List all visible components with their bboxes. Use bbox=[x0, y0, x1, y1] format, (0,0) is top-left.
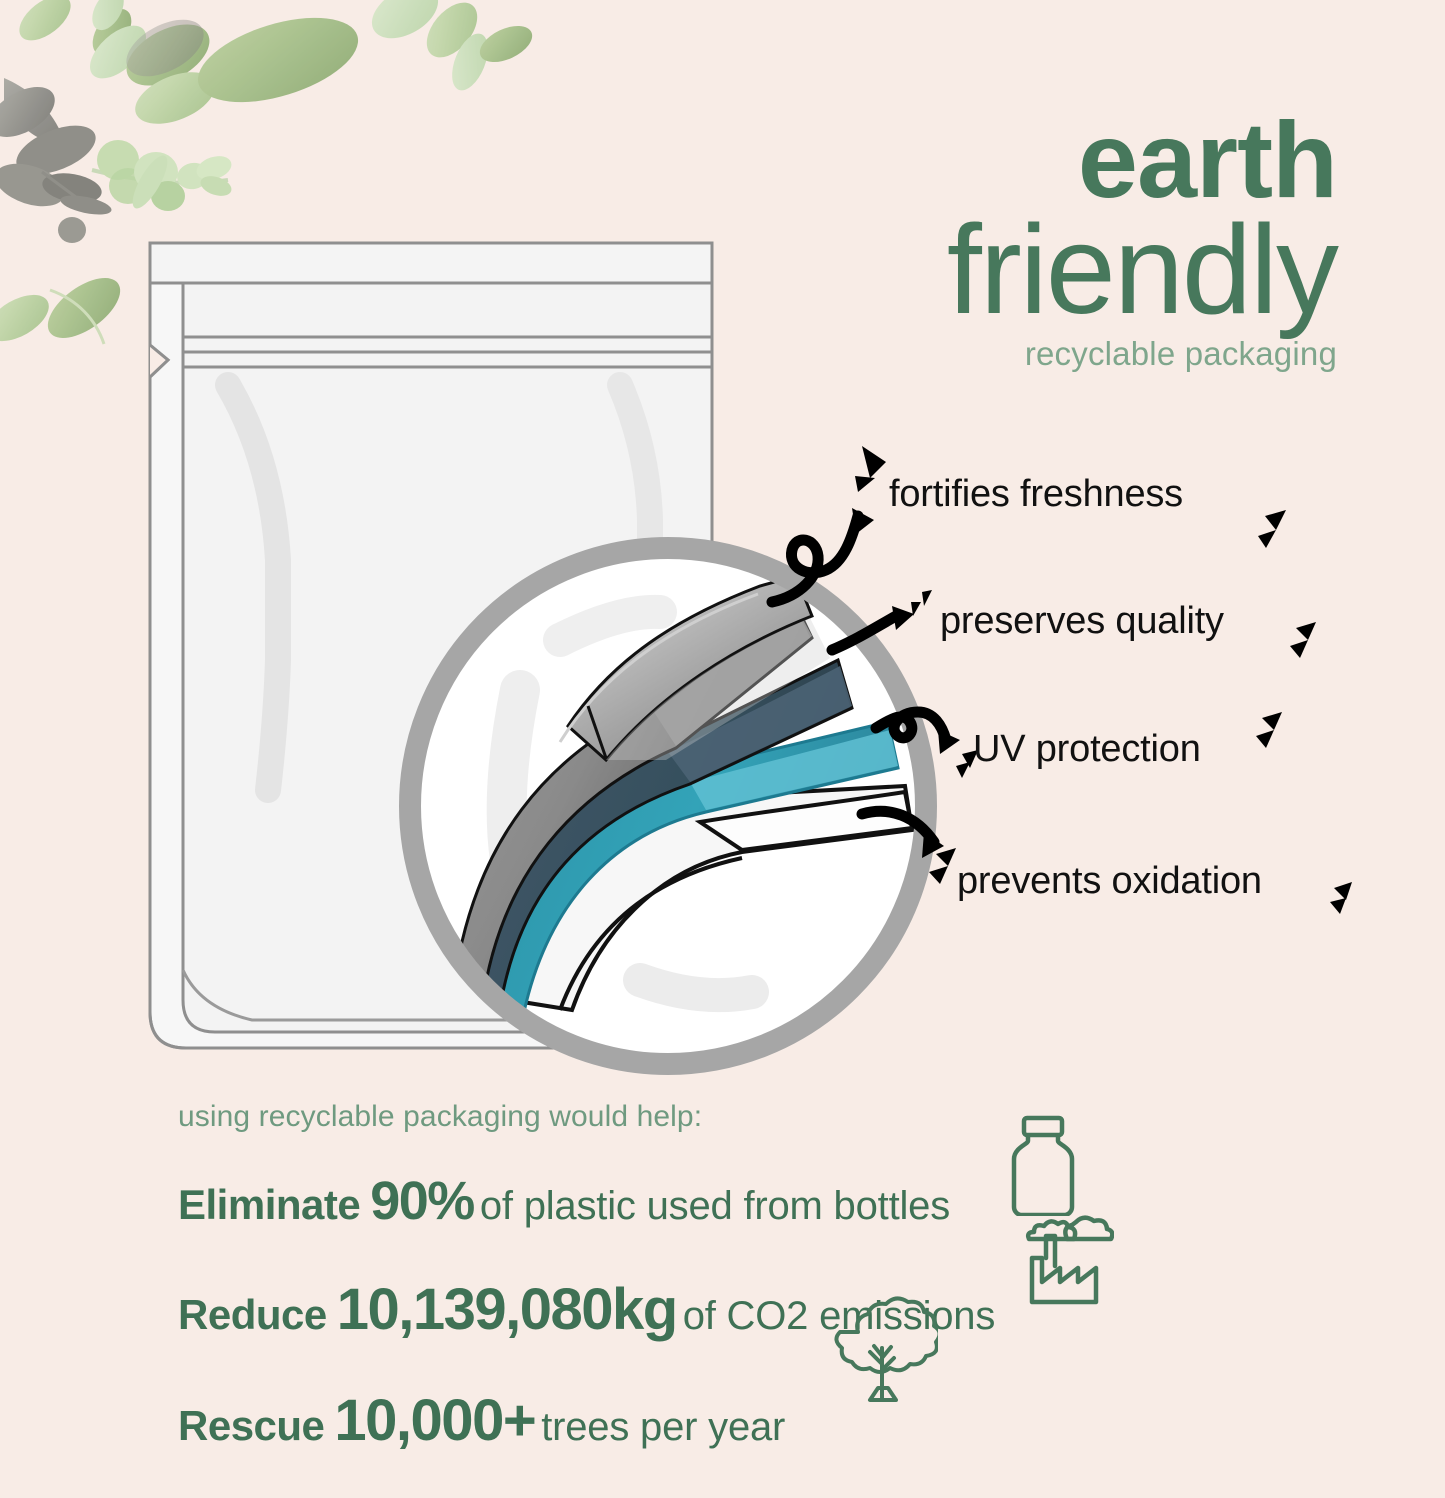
stat-verb: Rescue bbox=[178, 1402, 324, 1450]
bottle-icon bbox=[1000, 1112, 1086, 1216]
stat-value: 10,000+ bbox=[334, 1387, 535, 1454]
stat-value: 90% bbox=[370, 1170, 474, 1232]
headline-line-2: friendly bbox=[617, 208, 1337, 331]
factory-icon bbox=[1018, 1214, 1114, 1306]
infographic-canvas: earth friendly recyclable packaging bbox=[0, 0, 1445, 1446]
headline-line-1: earth bbox=[617, 108, 1337, 212]
stat-value: 10,139,080kg bbox=[337, 1276, 677, 1343]
feature-label-uv-protection: UV protection bbox=[973, 728, 1201, 771]
feature-label-prevents-oxidation: prevents oxidation bbox=[957, 860, 1262, 903]
foliage-decoration bbox=[0, 0, 560, 420]
callout-arrows bbox=[772, 516, 946, 842]
stat-row-rescue-trees: Rescue 10,000+ trees per year bbox=[178, 1387, 1278, 1454]
stats-lead-text: using recyclable packaging would help: bbox=[178, 1100, 1278, 1134]
tree-icon bbox=[826, 1292, 938, 1408]
magnifier-circle bbox=[410, 548, 926, 1064]
stat-tail: trees per year bbox=[541, 1405, 785, 1450]
callout-arrowheads bbox=[852, 508, 960, 858]
headline-subtitle: recyclable packaging bbox=[617, 335, 1337, 373]
stat-verb: Eliminate bbox=[178, 1181, 360, 1229]
feature-label-fortifies-freshness: fortifies freshness bbox=[889, 473, 1183, 516]
stat-verb: Reduce bbox=[178, 1291, 327, 1339]
sparkle-ticks bbox=[855, 446, 1352, 914]
feature-label-preserves-quality: preserves quality bbox=[940, 600, 1224, 643]
headline-block: earth friendly recyclable packaging bbox=[617, 108, 1337, 373]
stat-tail: of plastic used from bottles bbox=[480, 1184, 950, 1229]
